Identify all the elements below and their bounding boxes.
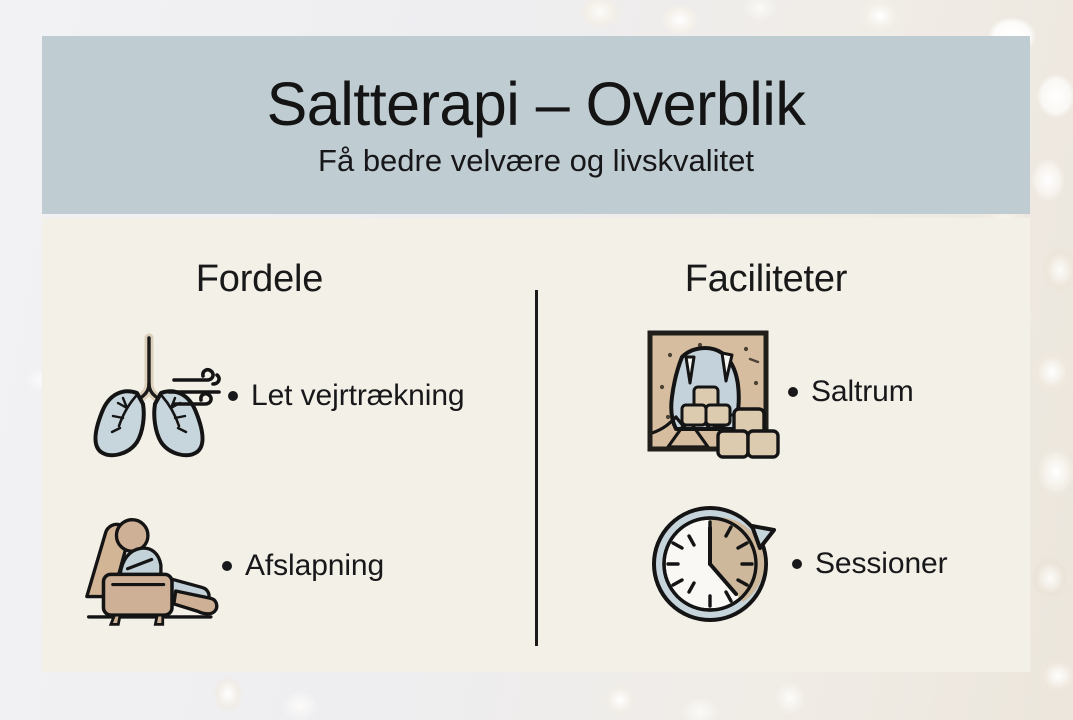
lungs-breathing-icon [78,326,228,466]
column-heading-fordele: Fordele [42,258,535,301]
list-item-text: Afslapning [245,549,384,583]
column-fordele: Fordele [42,218,535,672]
bullet-icon [222,561,232,571]
page-subtitle: Få bedre velvære og livskvalitet [318,144,754,178]
list-item-label: Sessioner [792,547,948,581]
list-item-label: Afslapning [222,549,384,583]
list-item-label: Let vejrtrækning [228,379,465,413]
content-panel: Fordele [42,218,1030,672]
list-item-text: Let vejrtrækning [251,379,465,413]
infographic-canvas: Saltterapi – Overblik Få bedre velvære o… [0,0,1073,720]
list-item-sessioner: Sessioner [642,494,948,634]
list-item-text: Sessioner [815,547,948,581]
clock-session-icon [642,494,792,634]
bullet-icon [228,391,238,401]
list-item-let-vejrtraekning: Let vejrtrækning [78,326,465,466]
header-band: Saltterapi – Overblik Få bedre velvære o… [42,36,1030,214]
bullet-icon [792,559,802,569]
bullet-icon [788,387,798,397]
list-item-label: Saltrum [788,375,914,409]
list-item-afslapning: Afslapning [72,496,384,636]
page-title: Saltterapi – Overblik [267,72,806,138]
list-item-text: Saltrum [811,375,914,409]
column-heading-faciliteter: Faciliteter [538,258,1030,301]
list-item-saltrum: Saltrum [638,322,914,462]
column-faciliteter: Faciliteter [538,218,1030,672]
recliner-relaxation-icon [72,496,222,636]
salt-cave-room-icon [638,322,788,462]
